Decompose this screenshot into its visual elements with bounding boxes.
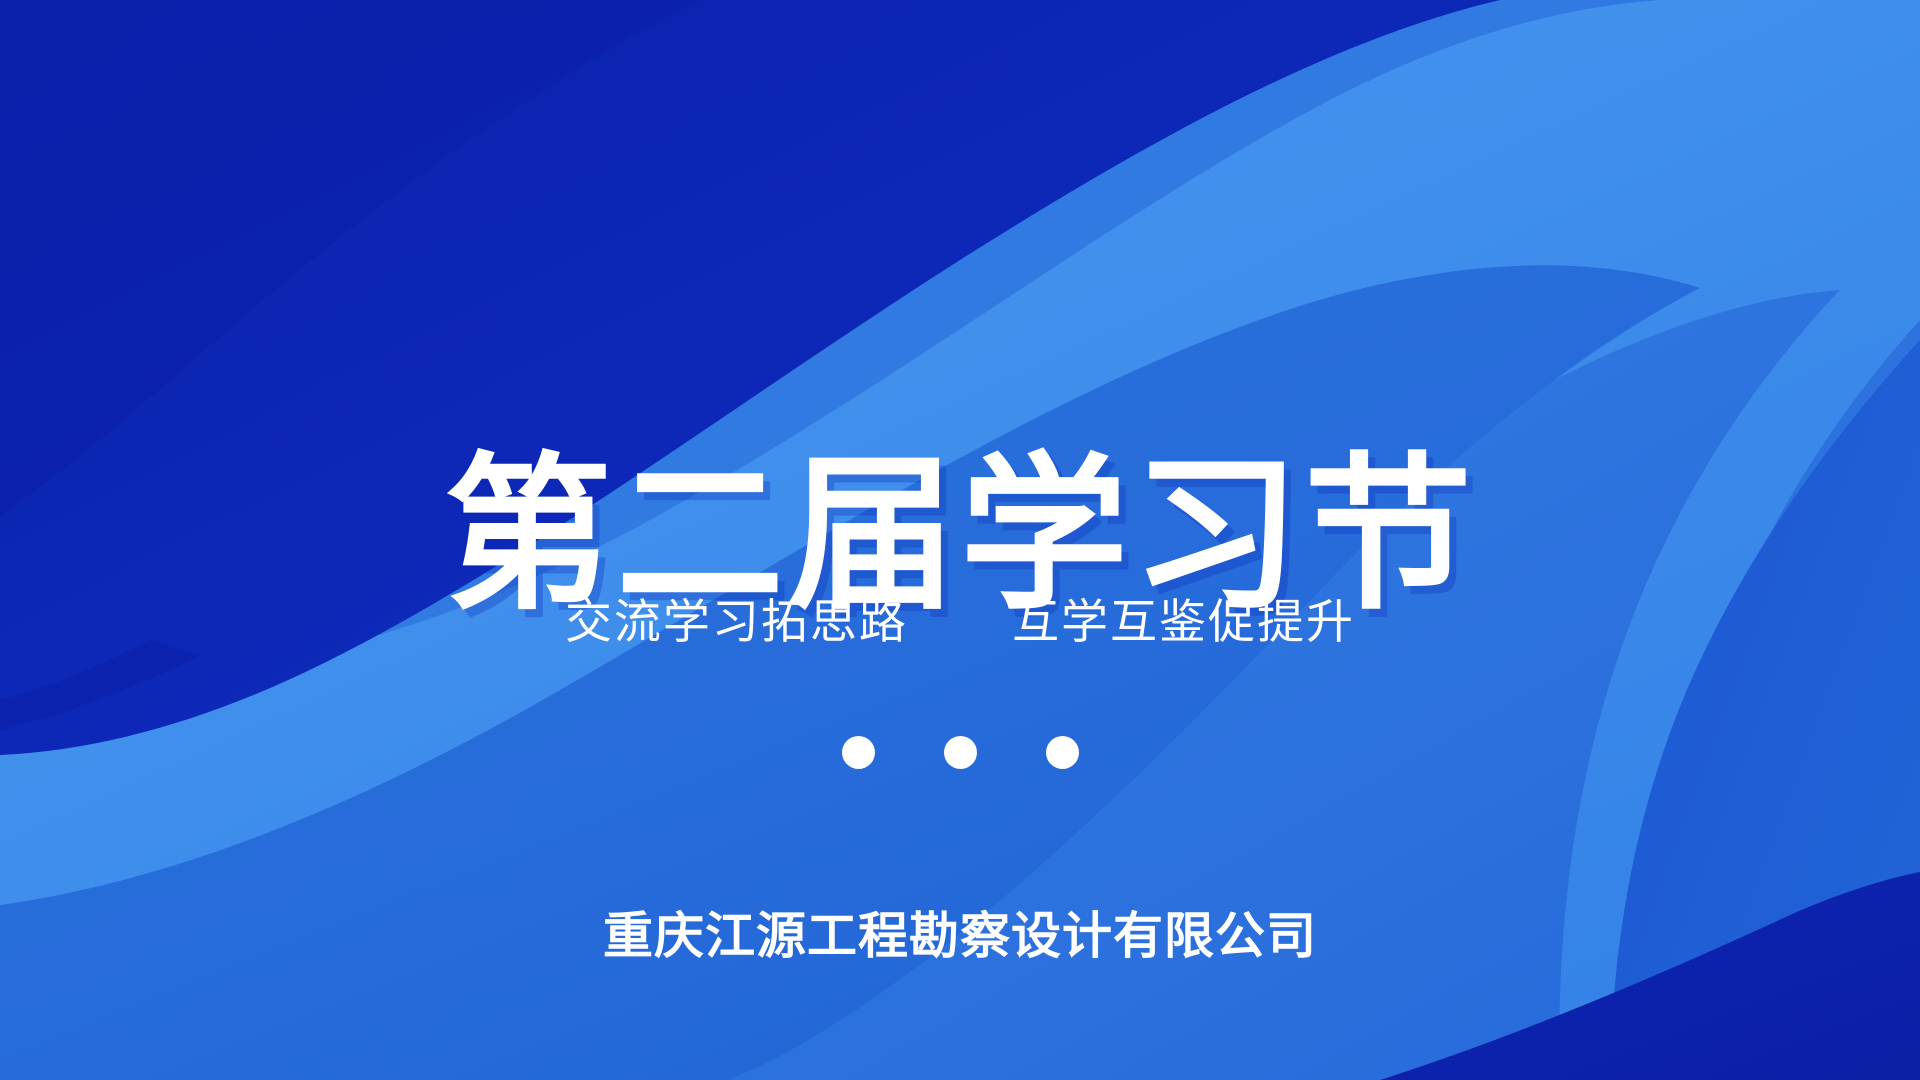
subtitle-phrase-left: 交流学习拓思路: [565, 595, 908, 648]
subtitle-phrase-right: 互学互鉴促提升: [1012, 595, 1355, 648]
poster-canvas: 第二届学习节 交流学习拓思路 互学互鉴促提升 重庆江源工程勘察设计有限公司: [0, 0, 1920, 1080]
dot-icon-3: [1046, 736, 1079, 769]
page-title: 第二届学习节: [0, 451, 1920, 619]
subtitle: 交流学习拓思路 互学互鉴促提升: [0, 598, 1920, 645]
dot-icon-1: [842, 736, 875, 769]
dots-decoration: [0, 736, 1920, 769]
company-name: 重庆江源工程勘察设计有限公司: [0, 911, 1920, 961]
dot-icon-2: [944, 736, 977, 769]
poster-content: 第二届学习节 交流学习拓思路 互学互鉴促提升 重庆江源工程勘察设计有限公司: [0, 0, 1920, 1080]
